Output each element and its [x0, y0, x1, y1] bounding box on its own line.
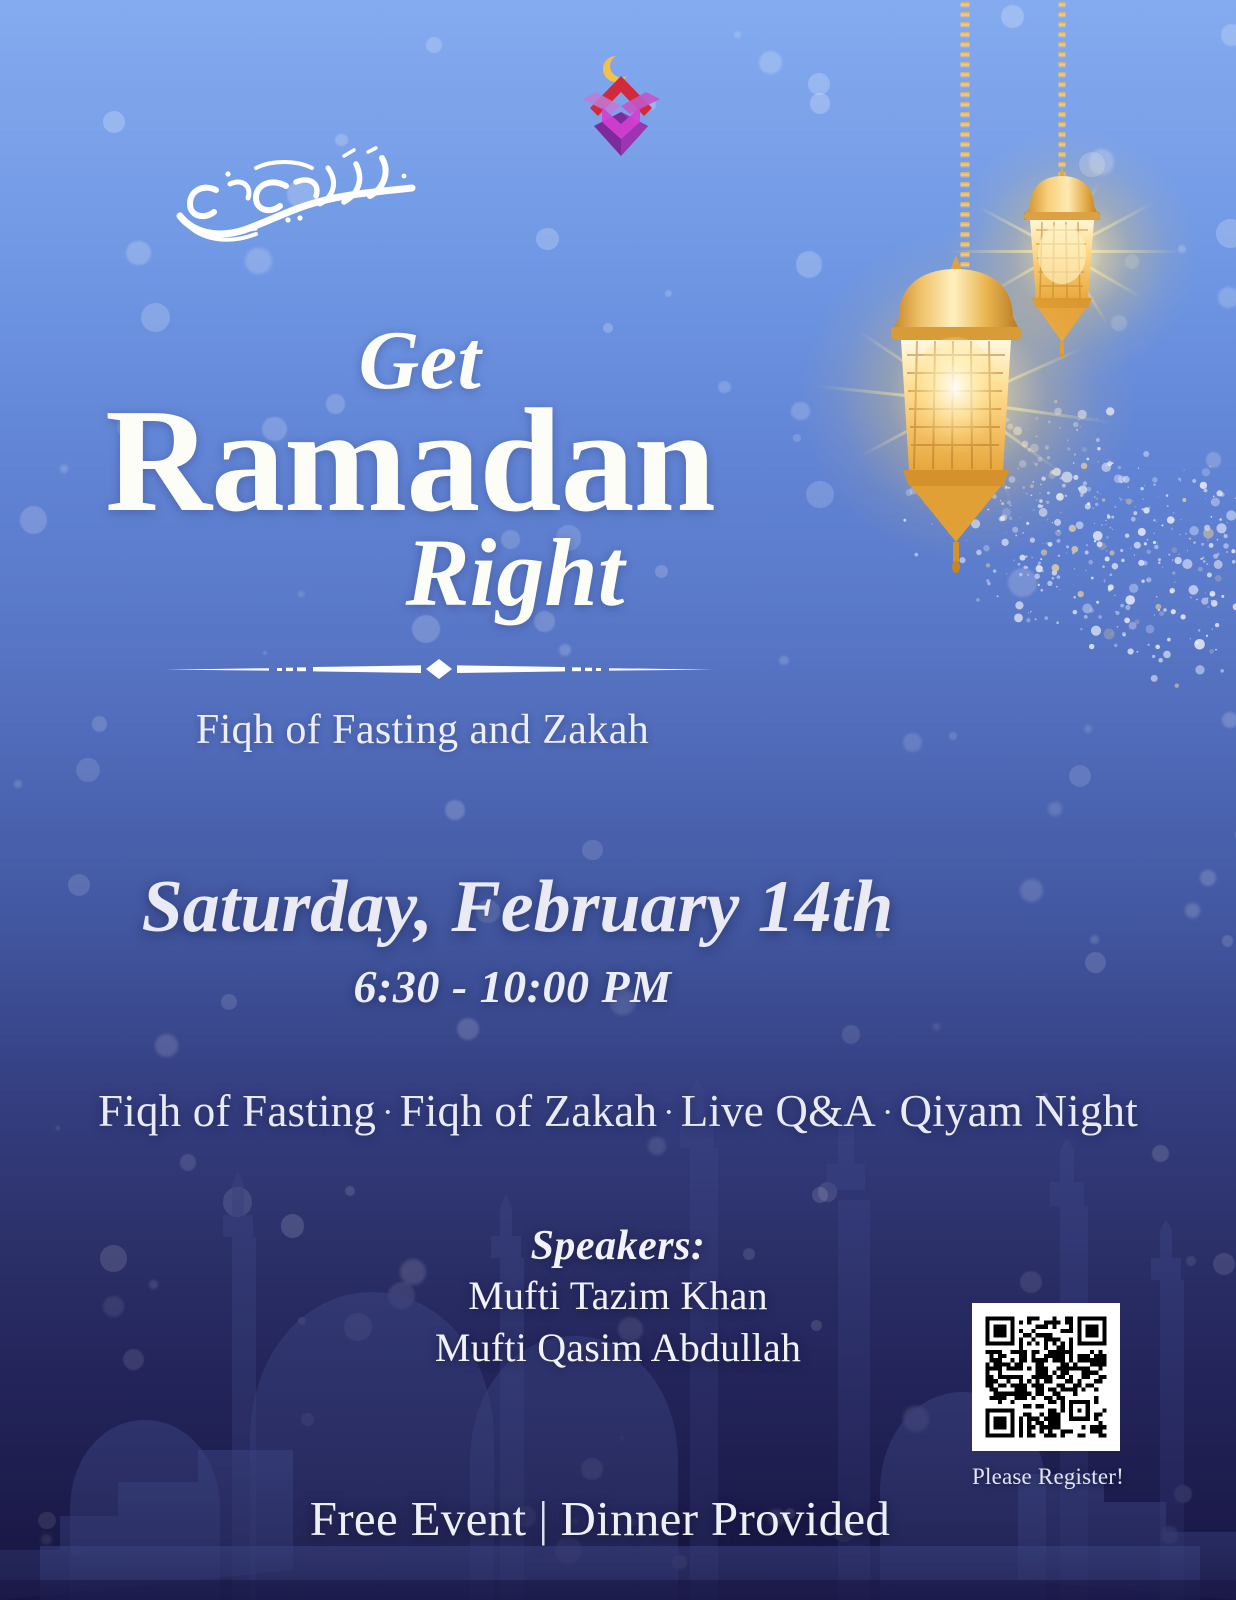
event-time: 6:30 - 10:00 PM: [0, 960, 1025, 1013]
footer-divider: |: [526, 1491, 560, 1546]
bokeh-dot: [1084, 725, 1092, 733]
bokeh-dot: [759, 51, 782, 74]
lantern-small-body: [1016, 168, 1108, 358]
bokeh-dot: [1111, 315, 1127, 331]
bokeh-dot: [445, 800, 465, 820]
bokeh-dot: [536, 228, 558, 250]
bokeh-dot: [1125, 254, 1139, 268]
lantern-large-chain: [961, 0, 970, 270]
topic-item: Fiqh of Zakah: [400, 1086, 658, 1136]
bokeh-dot: [426, 37, 442, 53]
bokeh-dot: [796, 251, 823, 278]
bokeh-dot: [779, 656, 788, 665]
bokeh-dot: [1001, 5, 1024, 28]
bokeh-dot: [1069, 765, 1091, 787]
bokeh-dot: [812, 1187, 828, 1203]
bokeh-dot: [335, 134, 347, 146]
topic-item: Fiqh of Fasting: [98, 1086, 376, 1136]
lantern-small-glow: [946, 130, 1196, 380]
bokeh-dot: [665, 290, 672, 297]
lantern-large-glow: [803, 230, 1133, 560]
ramadan-kareem-calligraphy: [168, 146, 430, 252]
footer-left: Free Event: [310, 1491, 527, 1546]
bokeh-dot: [76, 758, 100, 782]
bokeh-dot: [810, 93, 831, 114]
page-title: Get Ramadan Right: [0, 320, 820, 621]
bokeh-dot: [1152, 1145, 1169, 1162]
title-line-ramadan: Ramadan: [0, 396, 820, 526]
topic-separator: ·: [376, 1094, 400, 1131]
crescent-moon-icon: [603, 56, 627, 82]
bokeh-dot: [223, 1187, 253, 1217]
bokeh-dot: [582, 840, 603, 861]
topic-item: Live Q&A: [681, 1086, 876, 1136]
bokeh-dot: [818, 1182, 838, 1202]
bokeh-dot: [14, 780, 23, 789]
event-topics-list: Fiqh of Fasting·Fiqh of Zakah·Live Q&A·Q…: [0, 1085, 1236, 1137]
registration-qr-block[interactable]: Please Register!: [972, 1303, 1124, 1490]
bokeh-dot: [1089, 149, 1115, 175]
lantern-large-body: [881, 255, 1031, 575]
bokeh-dot: [71, 1546, 81, 1556]
bokeh-dot: [1200, 870, 1216, 886]
bokeh-dot: [126, 241, 151, 266]
bokeh-dot: [1185, 903, 1200, 918]
bokeh-dot: [949, 732, 956, 739]
bokeh-dot: [1085, 952, 1106, 973]
event-subtitle: Fiqh of Fasting and Zakah: [0, 706, 845, 754]
bokeh-dot: [931, 432, 937, 438]
bokeh-dot: [155, 1034, 178, 1057]
lantern-large: [875, 0, 1055, 620]
bokeh-dot: [301, 1413, 314, 1426]
bokeh-dot: [1079, 152, 1104, 177]
bokeh-dot: [903, 1406, 929, 1432]
topic-item: Qiyam Night: [900, 1086, 1138, 1136]
bokeh-dot: [1216, 219, 1236, 248]
bokeh-dot: [1090, 935, 1100, 945]
bokeh-dot: [263, 651, 267, 655]
bokeh-dot: [734, 31, 741, 38]
ramadan-event-flyer: Get Ramadan Right Fiqh of Fasting and Za…: [0, 0, 1236, 1600]
lantern-small: [1002, 0, 1122, 360]
speakers-label: Speakers:: [0, 1222, 1236, 1270]
bokeh-dot: [1218, 287, 1236, 308]
footer-note: Free Event|Dinner Provided: [0, 1490, 1200, 1547]
topic-separator: ·: [657, 1094, 681, 1131]
bokeh-dot: [559, 644, 571, 656]
bokeh-dot: [1206, 452, 1221, 467]
bokeh-dot: [1222, 935, 1234, 947]
bokeh-dot: [1082, 447, 1087, 452]
bokeh-dot: [648, 1137, 667, 1156]
bokeh-dot: [191, 1549, 195, 1553]
bokeh-dot: [180, 1154, 196, 1170]
bokeh-dot: [842, 1025, 860, 1043]
bokeh-dot: [1008, 568, 1037, 597]
bokeh-dot: [903, 733, 922, 752]
bokeh-dot: [1002, 508, 1012, 518]
topic-separator: ·: [876, 1094, 900, 1131]
organization-logo: [578, 52, 664, 160]
footer-right: Dinner Provided: [560, 1491, 890, 1546]
event-date: Saturday, February 14th: [0, 865, 1035, 950]
ornamental-divider: [165, 656, 713, 682]
lantern-small-chain: [1059, 0, 1066, 182]
bokeh-dot: [933, 1023, 940, 1030]
bokeh-dot: [1222, 712, 1236, 728]
bokeh-dot: [620, 1436, 624, 1440]
bokeh-dot: [581, 1458, 604, 1481]
qr-code[interactable]: [972, 1303, 1120, 1451]
bokeh-dot: [808, 73, 830, 95]
qr-caption: Please Register!: [972, 1464, 1124, 1490]
bokeh-dot: [345, 1186, 355, 1196]
bokeh-dot: [1221, 24, 1236, 45]
bokeh-dot: [103, 111, 125, 133]
bokeh-dot: [672, 1555, 687, 1570]
bokeh-dot: [457, 1018, 479, 1040]
bokeh-dot: [1048, 802, 1062, 816]
bokeh-dot: [1178, 245, 1186, 253]
